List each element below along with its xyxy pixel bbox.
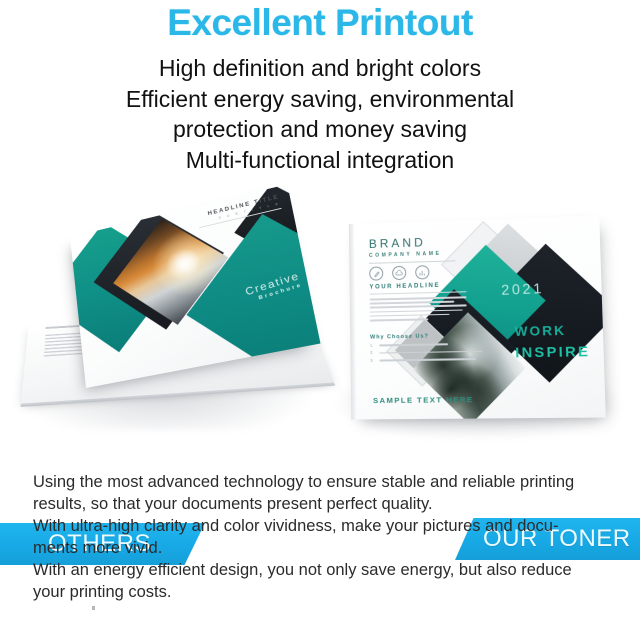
bullet-text-bar xyxy=(379,343,448,346)
word-top-label: WORK xyxy=(515,323,567,339)
comparison-stage: HEADLINE TITLE S U B T I T L E Creative … xyxy=(0,215,640,460)
list-item: 2. xyxy=(370,349,482,355)
lens-flare xyxy=(159,242,208,287)
cloud-icon xyxy=(392,266,406,280)
bullet-number: 1. xyxy=(370,344,375,348)
description-copy: Using the most advanced technology to en… xyxy=(33,472,613,604)
word-bottom-label: INSPIRE xyxy=(515,343,590,361)
chart-icon xyxy=(415,265,429,279)
year-label: 2021 xyxy=(501,280,544,298)
bullet-text-bar xyxy=(379,350,482,353)
copy-line-3: With ultra-high clarity and color vividn… xyxy=(33,516,613,538)
copy-line-4: ments more vivid. xyxy=(33,538,613,560)
why-choose-us-list: 1. 2. 3. xyxy=(370,342,482,366)
our-toner-brochure: 2021 WORK INSPIRE BRAND COMPANY NAME xyxy=(332,217,632,445)
others-brochure: HEADLINE TITLE S U B T I T L E Creative … xyxy=(8,220,320,442)
subtitle-line-4: Multi-functional integration xyxy=(0,145,640,176)
feature-icon-row xyxy=(369,265,429,281)
list-item: 1. xyxy=(370,342,482,348)
company-name: COMPANY NAME xyxy=(369,250,455,259)
subtitle-line-3: protection and money saving xyxy=(0,114,640,145)
header: Excellent Printout High definition and b… xyxy=(0,0,640,175)
copy-line-1: Using the most advanced technology to en… xyxy=(33,472,613,494)
subtitle-block: High definition and bright colors Effici… xyxy=(0,53,640,175)
subtitle-line-2: Efficient energy saving, environmental xyxy=(0,84,640,115)
why-choose-us-title: Why Choose Us? xyxy=(370,333,429,340)
copy-line-5: With an energy efficient design, you not… xyxy=(33,560,613,582)
bullet-number: 3. xyxy=(370,358,375,362)
bullet-text-bar xyxy=(379,358,475,361)
page-spine xyxy=(349,224,356,420)
product-feature-page: Excellent Printout High definition and b… xyxy=(0,0,640,619)
pen-icon xyxy=(369,266,383,280)
bullet-number: 2. xyxy=(370,351,375,355)
subtitle-line-1: High definition and bright colors xyxy=(0,53,640,84)
brochure-headline: YOUR HEADLINE xyxy=(369,283,440,291)
copy-line-2: results, so that your documents present … xyxy=(33,494,613,516)
body-placeholder-lines xyxy=(370,296,467,323)
sample-text-label: SAMPLE TEXT HERE xyxy=(373,395,474,405)
page-title: Excellent Printout xyxy=(0,4,640,41)
list-item: 3. xyxy=(370,357,482,363)
copy-line-6: your printing costs. xyxy=(33,582,613,604)
brand-name: BRAND xyxy=(369,234,456,251)
brochure-cover: 2021 WORK INSPIRE BRAND COMPANY NAME xyxy=(349,215,606,419)
scan-artifact-speck xyxy=(92,606,95,610)
brand-block: BRAND COMPANY NAME xyxy=(369,234,456,263)
